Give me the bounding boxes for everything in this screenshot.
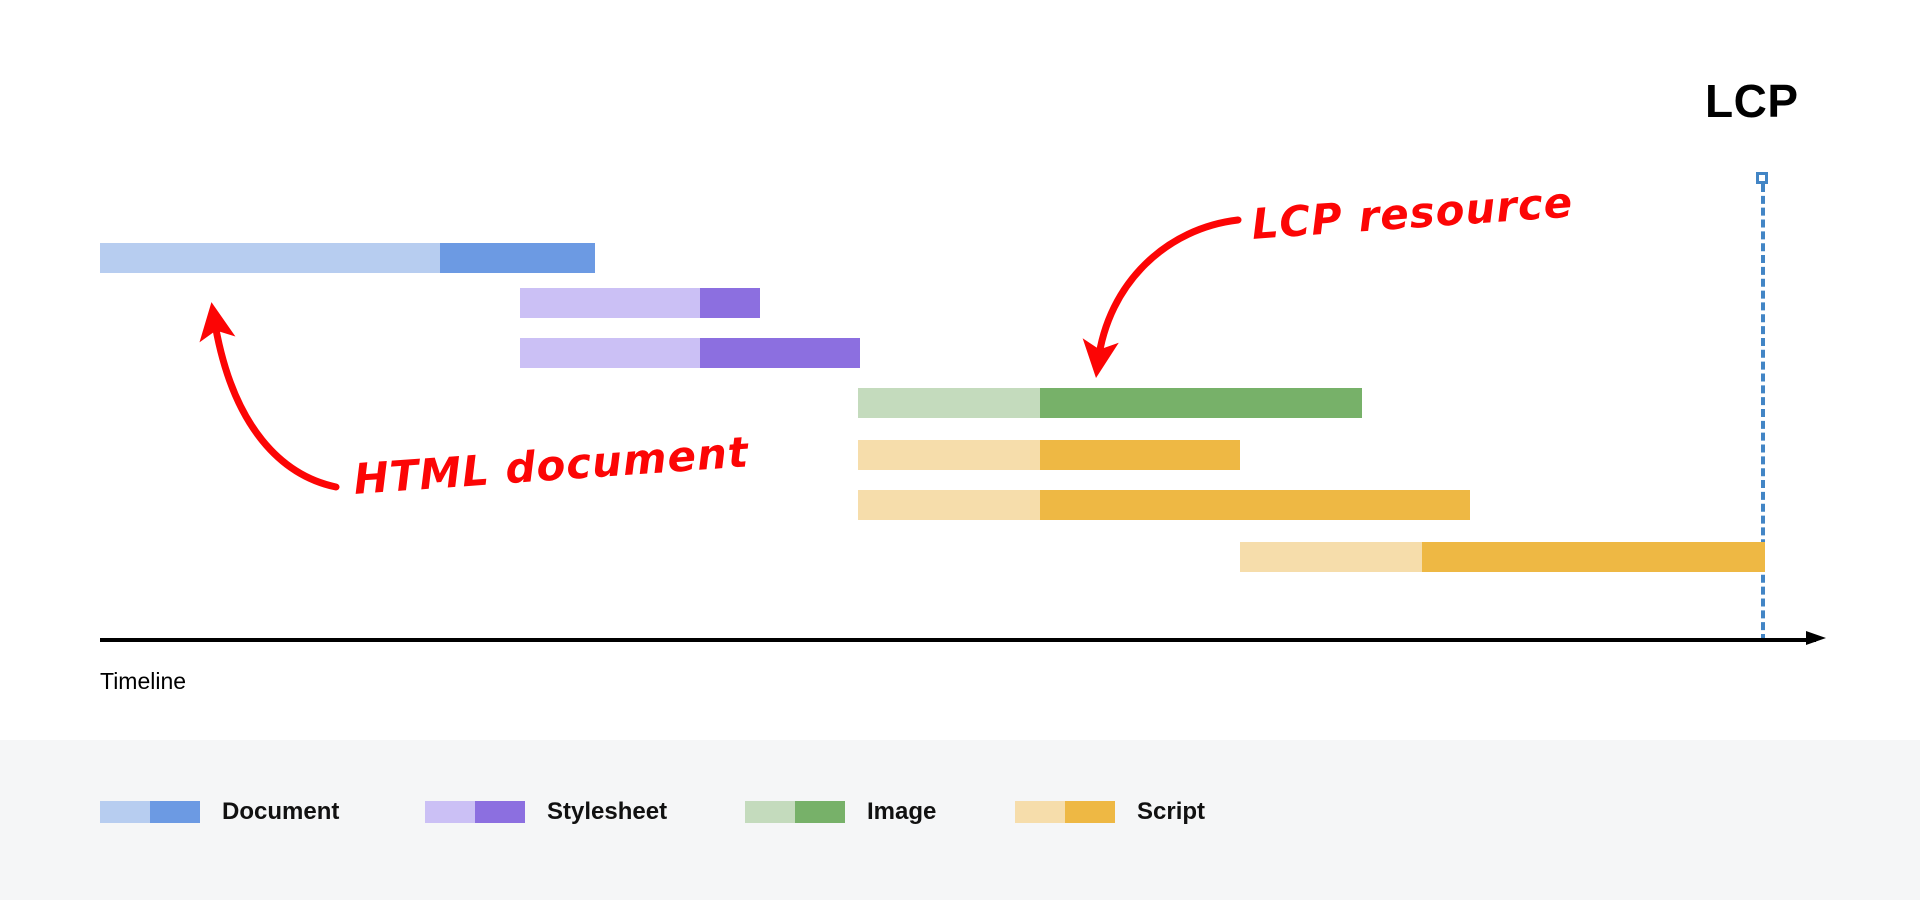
resource-bar-stylesheet-1[interactable]	[520, 288, 760, 318]
resource-bar-stylesheet-2[interactable]	[520, 338, 860, 368]
legend-swatch-icon	[1015, 801, 1115, 823]
legend-swatch-wait	[1015, 801, 1065, 823]
resource-bar-script-1[interactable]	[858, 440, 1240, 470]
bar-segment-load	[700, 338, 860, 368]
bar-segment-wait	[520, 288, 700, 318]
bar-segment-wait	[1240, 542, 1422, 572]
bar-segment-wait	[858, 388, 1040, 418]
waterfall-diagram: LCP HTML document LCP resource Ti	[0, 0, 1920, 900]
bar-segment-wait	[520, 338, 700, 368]
legend-item-image[interactable]: Image	[745, 798, 936, 826]
legend-swatch-wait	[425, 801, 475, 823]
lcp-marker-handle[interactable]	[1756, 172, 1768, 184]
legend-item-script[interactable]: Script	[1015, 798, 1205, 826]
bar-segment-wait	[858, 440, 1040, 470]
legend-swatch-load	[475, 801, 525, 823]
legend-swatch-wait	[100, 801, 150, 823]
html-document-annotation-text: HTML document	[352, 427, 750, 503]
resource-bar-script-3[interactable]	[1240, 542, 1765, 572]
legend-swatch-load	[1065, 801, 1115, 823]
resource-bar-script-2[interactable]	[858, 490, 1470, 520]
chart-plot-area: LCP HTML document LCP resource Ti	[0, 0, 1920, 740]
timeline-axis-arrowhead	[1806, 626, 1846, 656]
legend-swatch-load	[150, 801, 200, 823]
lcp-label: LCP	[1705, 78, 1799, 124]
bar-segment-load	[1040, 388, 1362, 418]
bar-segment-load	[1422, 542, 1765, 572]
resource-bar-lcp-image[interactable]	[858, 388, 1362, 418]
resource-bar-html-document[interactable]	[100, 243, 595, 273]
timeline-axis-line	[100, 638, 1816, 642]
legend-label: Script	[1137, 798, 1205, 826]
html-document-arrow	[214, 318, 336, 487]
legend-swatch-load	[795, 801, 845, 823]
annotation-arrows	[0, 0, 1920, 740]
lcp-resource-annotation-text: LCP resource	[1250, 178, 1575, 249]
bar-segment-load	[1040, 490, 1470, 520]
legend-swatch-wait	[745, 801, 795, 823]
legend-label: Stylesheet	[547, 798, 667, 826]
bar-segment-wait	[100, 243, 440, 273]
legend-swatch-icon	[100, 801, 200, 823]
bar-segment-load	[700, 288, 760, 318]
legend-label: Image	[867, 798, 936, 826]
legend-swatch-icon	[425, 801, 525, 823]
legend-footer: DocumentStylesheetImageScript	[0, 740, 1920, 900]
bar-segment-wait	[858, 490, 1040, 520]
timeline-axis-label: Timeline	[100, 668, 186, 695]
lcp-vertical-line	[1761, 184, 1765, 642]
bar-segment-load	[440, 243, 595, 273]
legend-label: Document	[222, 798, 339, 826]
legend-item-document[interactable]: Document	[100, 798, 339, 826]
bar-segment-load	[1040, 440, 1240, 470]
legend-swatch-icon	[745, 801, 845, 823]
legend-item-stylesheet[interactable]: Stylesheet	[425, 798, 667, 826]
lcp-resource-arrow	[1098, 220, 1238, 362]
